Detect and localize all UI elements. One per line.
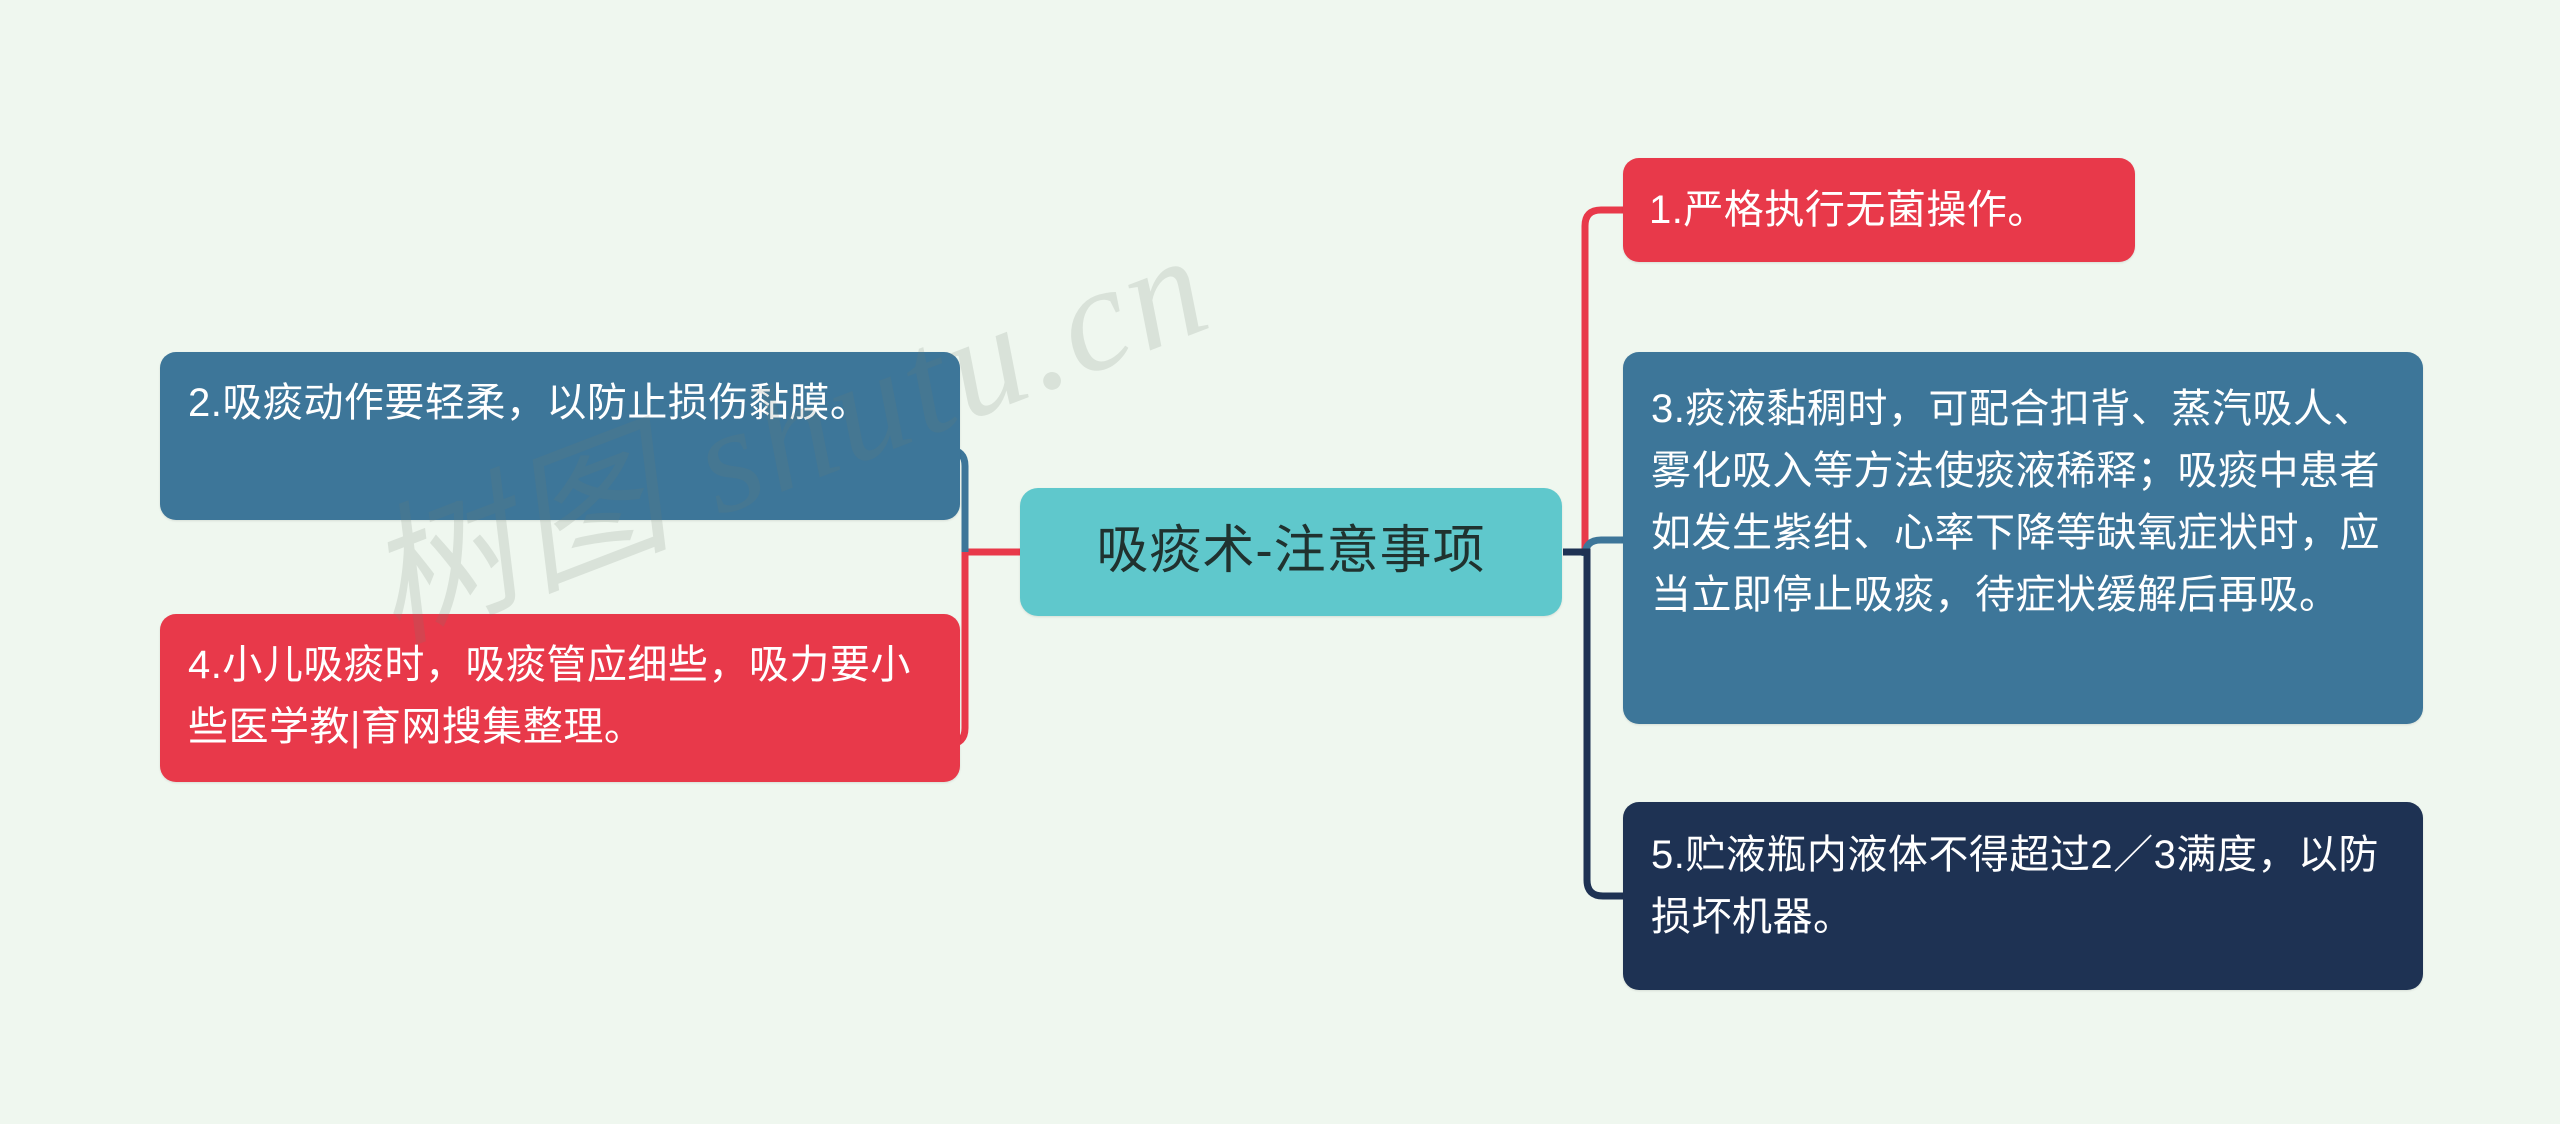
mindmap-branch-node-5[interactable]: 5.贮液瓶内液体不得超过2／3满度，以防损坏机器。	[1623, 802, 2423, 990]
connector-branch-1	[1563, 210, 1623, 552]
mindmap-branch-node-4[interactable]: 4.小儿吸痰时，吸痰管应细些，吸力要小些医学教|育网搜集整理。	[160, 614, 960, 782]
mindmap-canvas: 树图 shutu.cn 吸痰术-注意事项 1.严格执行无菌操作。 3.痰液黏稠时…	[0, 0, 2560, 1124]
mindmap-branch-node-2[interactable]: 2.吸痰动作要轻柔，以防止损伤黏膜。	[160, 352, 960, 520]
connector-branch-5	[1563, 552, 1623, 896]
mindmap-branch-node-3[interactable]: 3.痰液黏稠时，可配合扣背、蒸汽吸人、雾化吸入等方法使痰液稀释；吸痰中患者如发生…	[1623, 352, 2423, 724]
center-node-label: 吸痰术-注意事项	[1020, 523, 1562, 580]
mindmap-branch-node-1[interactable]: 1.严格执行无菌操作。	[1623, 158, 2135, 262]
branch-node-4-label: 4.小儿吸痰时，吸痰管应细些，吸力要小些医学教|育网搜集整理。	[188, 634, 932, 758]
branch-node-2-label: 2.吸痰动作要轻柔，以防止损伤黏膜。	[188, 372, 932, 434]
branch-node-1-label: 1.严格执行无菌操作。	[1649, 179, 2109, 241]
branch-node-5-label: 5.贮液瓶内液体不得超过2／3满度，以防损坏机器。	[1651, 824, 2395, 948]
mindmap-center-node[interactable]: 吸痰术-注意事项	[1020, 488, 1562, 616]
branch-node-3-label: 3.痰液黏稠时，可配合扣背、蒸汽吸人、雾化吸入等方法使痰液稀释；吸痰中患者如发生…	[1651, 378, 2395, 626]
